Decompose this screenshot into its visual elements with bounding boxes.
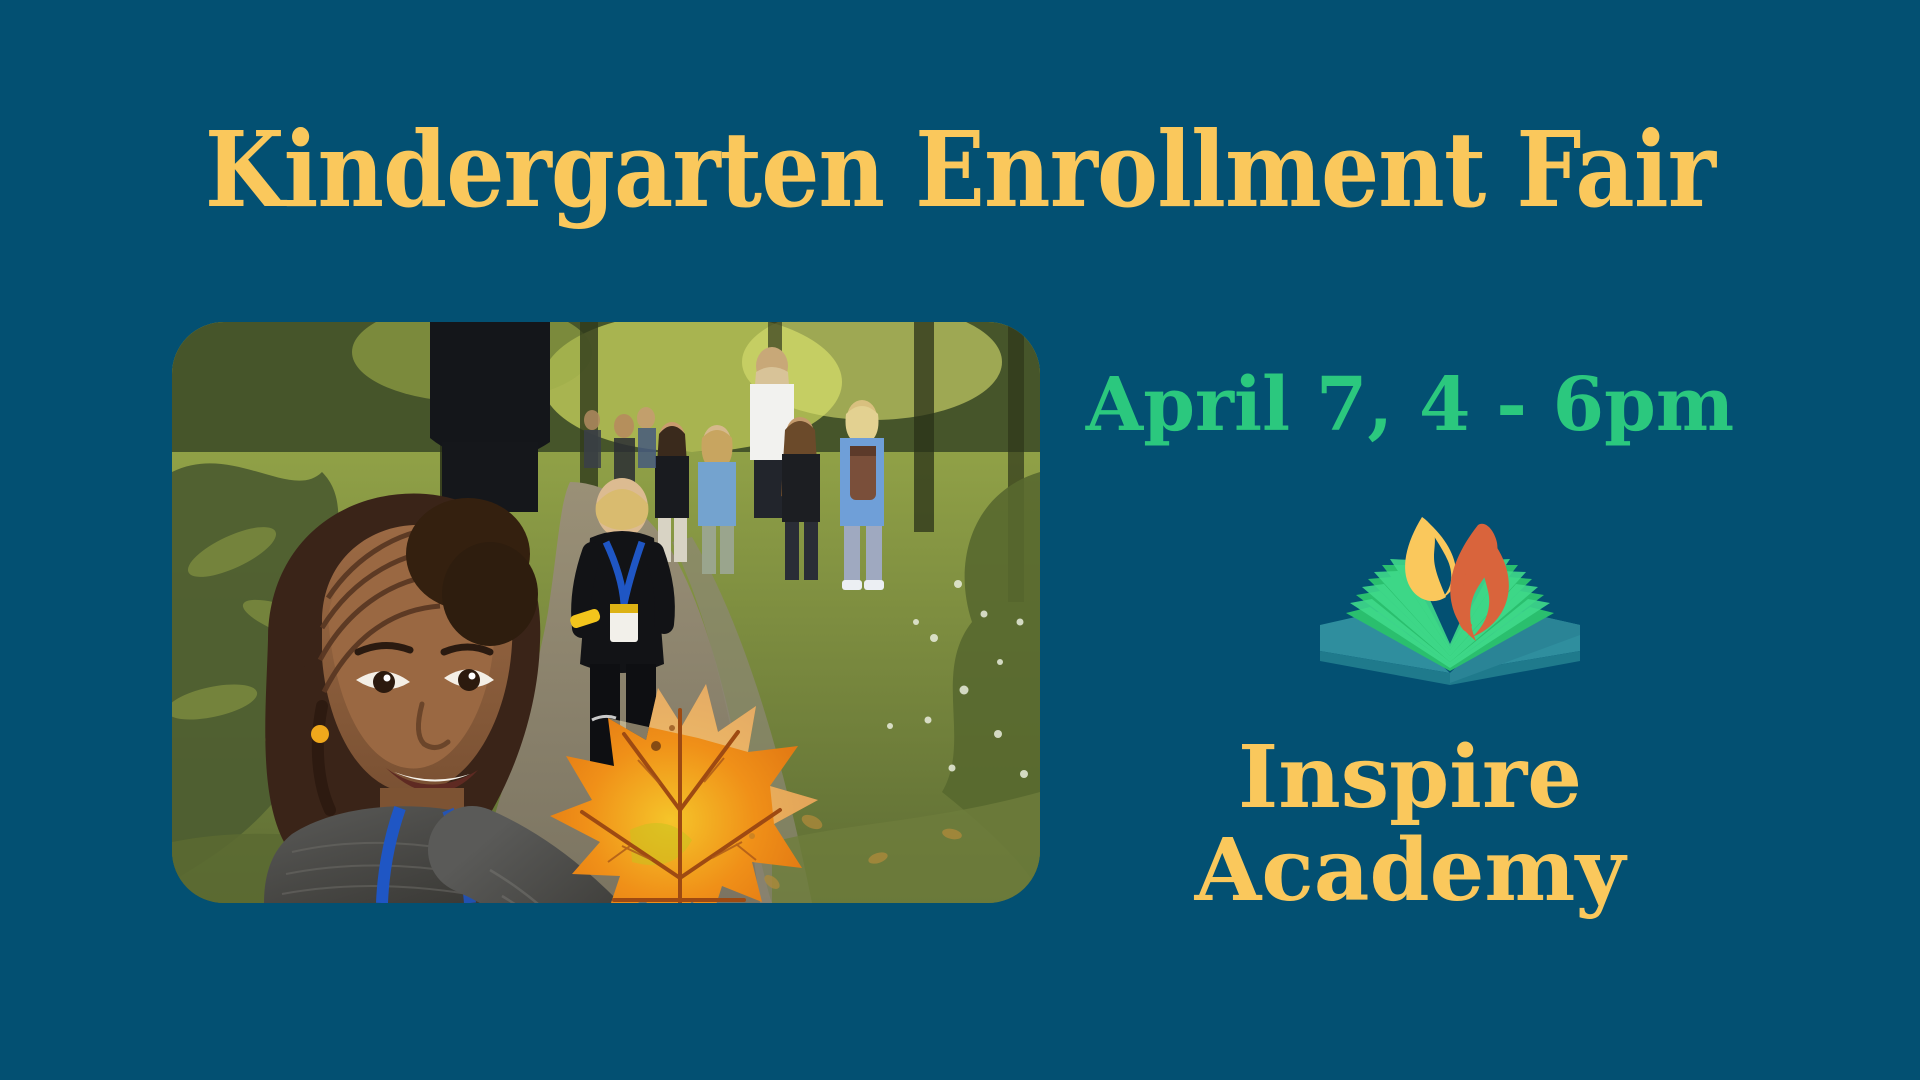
page-title: Kindergarten Enrollment Fair <box>115 118 1805 222</box>
organization-name-line-1: Inspire <box>1060 732 1760 825</box>
inspire-academy-logo <box>1310 495 1590 695</box>
poster-canvas: Kindergarten Enrollment Fair <box>0 0 1920 1080</box>
organization-name-line-2: Academy <box>1060 825 1760 918</box>
event-date-time: April 7, 4 - 6pm <box>1060 368 1760 442</box>
hero-photo-illustration <box>172 322 1040 903</box>
hero-photo <box>172 322 1040 903</box>
organization-name: Inspire Academy <box>1060 732 1760 918</box>
book-flame-icon <box>1310 495 1590 695</box>
